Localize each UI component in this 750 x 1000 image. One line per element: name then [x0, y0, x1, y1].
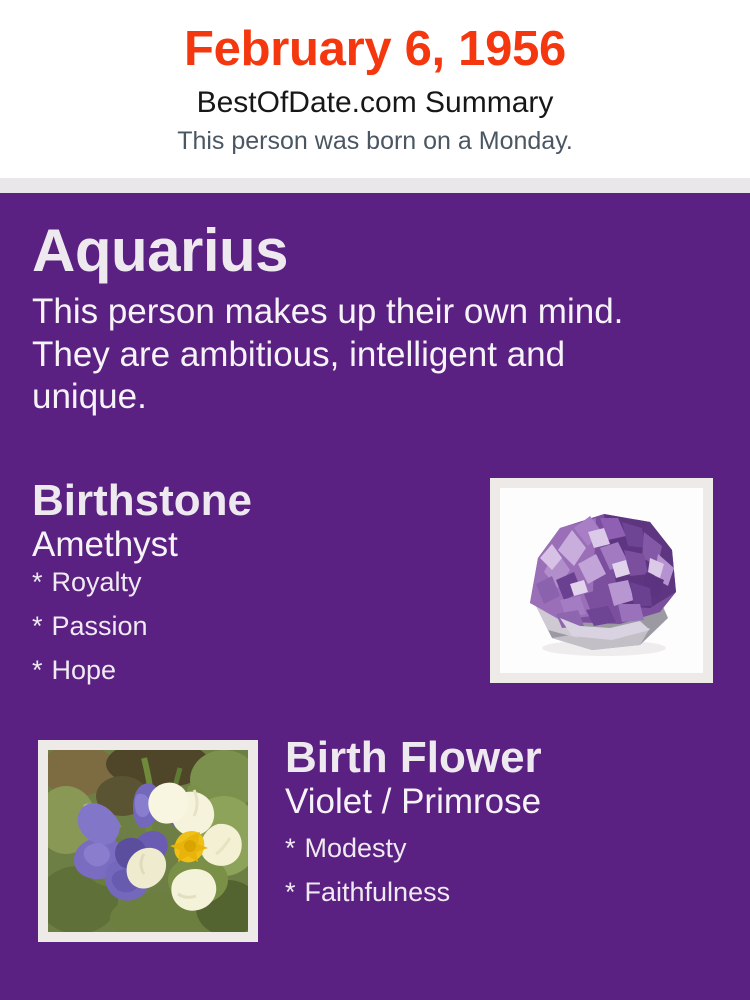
amethyst-photo [500, 488, 703, 673]
asterisk-icon: * [285, 833, 296, 863]
list-item-label: Faithfulness [305, 877, 451, 907]
asterisk-icon: * [32, 567, 43, 597]
list-item: *Hope [32, 657, 462, 684]
header-divider [0, 178, 750, 193]
flower-photo [48, 750, 248, 932]
asterisk-icon: * [32, 655, 43, 685]
asterisk-icon: * [32, 611, 43, 641]
card-header: February 6, 1956 BestOfDate.com Summary … [0, 0, 750, 178]
summary-card: February 6, 1956 BestOfDate.com Summary … [0, 0, 750, 1000]
list-item-label: Royalty [52, 567, 142, 597]
list-item-label: Modesty [305, 833, 407, 863]
zodiac-description: This person makes up their own mind. The… [32, 291, 682, 419]
list-item: *Passion [32, 613, 462, 640]
list-item: *Royalty [32, 569, 462, 596]
list-item-label: Hope [52, 655, 117, 685]
birthstone-heading: Birthstone [32, 478, 462, 524]
birth-flower-heading: Birth Flower [285, 735, 725, 781]
birth-flower-section: Birth Flower Violet / Primrose *Modesty … [285, 735, 725, 923]
violet-primrose-flower-icon [48, 750, 248, 932]
birth-flower-photo-frame [38, 740, 258, 942]
birthstone-trait-list: *Royalty *Passion *Hope [32, 569, 462, 684]
birth-flower-name: Violet / Primrose [285, 783, 725, 821]
zodiac-sign-title: Aquarius [32, 221, 288, 281]
page-title-date: February 6, 1956 [0, 24, 750, 75]
header-subtitle: This person was born on a Monday. [0, 128, 750, 156]
birthstone-photo-frame [490, 478, 713, 683]
asterisk-icon: * [285, 877, 296, 907]
birthstone-section: Birthstone Amethyst *Royalty *Passion *H… [32, 478, 462, 701]
site-title: BestOfDate.com Summary [0, 86, 750, 119]
birth-flower-trait-list: *Modesty *Faithfulness [285, 835, 725, 906]
list-item: *Faithfulness [285, 879, 725, 906]
birthstone-name: Amethyst [32, 526, 462, 564]
list-item: *Modesty [285, 835, 725, 862]
amethyst-crystal-icon [500, 488, 703, 673]
list-item-label: Passion [52, 611, 148, 641]
